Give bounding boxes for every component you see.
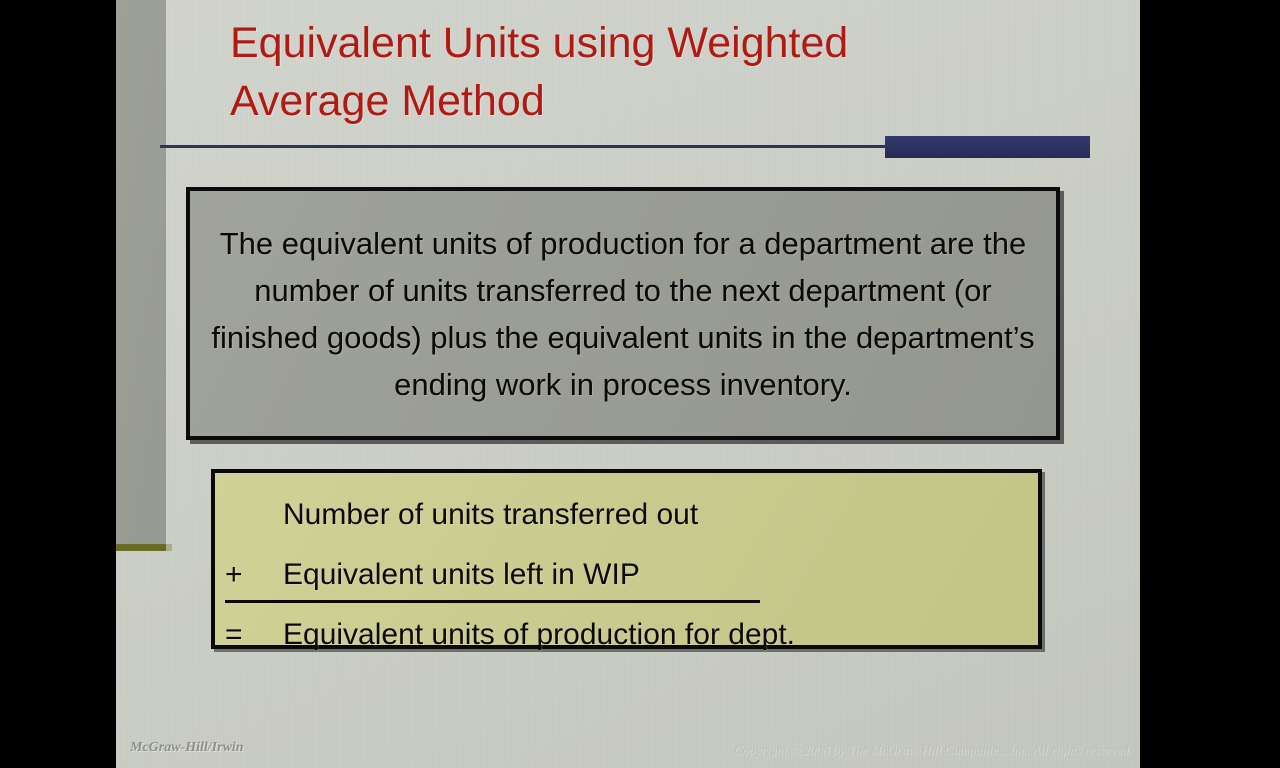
title-divider-rule <box>160 145 886 148</box>
page-title: Equivalent Units using Weighted Average … <box>230 14 1020 130</box>
left-decorative-bar <box>116 0 166 544</box>
formula-row: + Equivalent units left in WIP <box>215 545 1038 605</box>
formula-operator: = <box>215 605 253 665</box>
slide-viewport: Equivalent Units using Weighted Average … <box>0 0 1280 768</box>
formula-callout-box: Number of units transferred out + Equiva… <box>211 469 1042 649</box>
slide-canvas: Equivalent Units using Weighted Average … <box>116 0 1140 768</box>
formula-label: Equivalent units of production for dept. <box>253 605 1038 665</box>
formula-row: Number of units transferred out <box>215 485 1038 545</box>
formula-row: = Equivalent units of production for dep… <box>215 605 1038 665</box>
formula-label: Number of units transferred out <box>253 485 1038 545</box>
formula-label: Equivalent units left in WIP <box>253 545 1038 605</box>
definition-text: The equivalent units of production for a… <box>190 220 1056 408</box>
title-accent-block <box>885 136 1090 158</box>
definition-callout-box: The equivalent units of production for a… <box>186 187 1060 440</box>
left-olive-accent-extension <box>166 544 172 551</box>
footer-publisher: McGraw-Hill/Irwin <box>130 740 244 756</box>
left-olive-accent-line <box>116 544 166 551</box>
title-block: Equivalent Units using Weighted Average … <box>230 14 1020 130</box>
formula-operator: + <box>215 545 253 605</box>
footer-copyright: Copyright © 2008 by The McGraw-Hill Comp… <box>734 742 1132 758</box>
